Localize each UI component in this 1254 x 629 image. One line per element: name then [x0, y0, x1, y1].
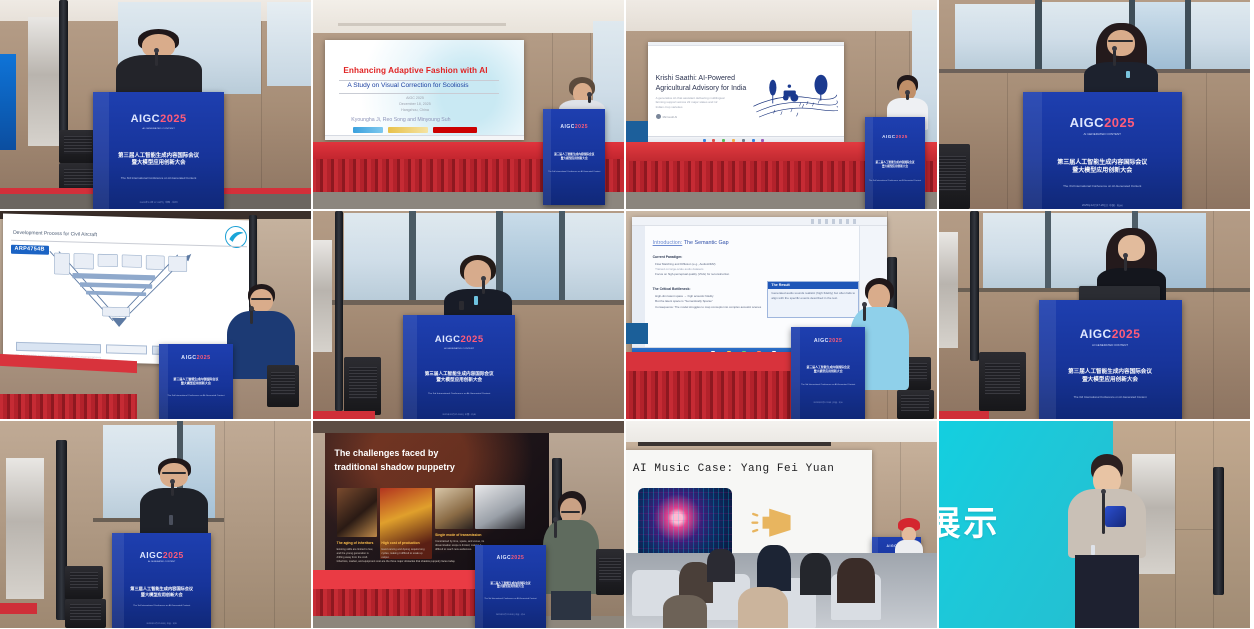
- glasses: [162, 472, 187, 474]
- logo-year: 2025: [829, 338, 843, 344]
- podium-logo-tagline: AI GENERATED CONTENT: [112, 562, 212, 564]
- window-mullion: [559, 211, 565, 303]
- presentation-clicker: [459, 301, 464, 310]
- logo-year: 2025: [460, 334, 483, 345]
- podium-date: 2025年12月17-20日 | 中国 · 杭州: [112, 623, 212, 625]
- decor-panel: [313, 240, 332, 352]
- collage-tile-male-speaker-at-podium-dark-jacket[interactable]: AIGC2025 AI GENERATED CONTENT 第三届人工智能生成内…: [0, 0, 311, 209]
- podium: AIGC2025 第三届人工智能生成内容国际会议 暨大模型应用创新大会 The …: [475, 545, 547, 628]
- projection-screen: Krishi Saathi: AI-Powered Agricultural A…: [648, 42, 844, 142]
- podium-logo: AIGC2025: [159, 355, 234, 361]
- collage-tile-ai-music-case-slide[interactable]: AI Music Case: Yang Fei Yuan AIGC2025 第三…: [626, 421, 937, 628]
- podium-cn-title: 第三届人工智能生成内容国际会议 暨大模型应用创新大会: [791, 366, 866, 374]
- podium: AIGC2025 第三届人工智能生成内容国际会议 暨大模型应用创新大会 The …: [543, 109, 605, 205]
- podium-en-title: The 3rd International Conference on AI-G…: [112, 605, 212, 607]
- podium: AIGC2025 AI GENERATED CONTENT 第三届人工智能生成内…: [112, 533, 212, 628]
- logo-year: 2025: [1104, 115, 1135, 130]
- stage-platform: [939, 411, 989, 419]
- logo-aigc: AIGC: [131, 113, 161, 125]
- pa-speaker: [65, 599, 105, 628]
- process-band-mid: [106, 345, 146, 355]
- slide-title: The challenges faced by traditional shad…: [334, 447, 477, 474]
- podium-cn-line-2: 暨大模型应用创新大会: [543, 157, 605, 161]
- microphone: [554, 520, 557, 538]
- v-model-diagram: [41, 247, 197, 342]
- microphone: [482, 279, 485, 295]
- card-body: Hand carving and dyeing require long cyc…: [381, 548, 426, 560]
- logo-biobizz: [353, 127, 383, 133]
- logo-year: 2025: [197, 355, 211, 361]
- ceiling-beam: [338, 23, 506, 26]
- podium-logo-tagline: AI GENERATED CONTENT: [93, 127, 224, 129]
- pa-speaker: [59, 130, 96, 163]
- podium: AIGC2025 第三届人工智能生成内容国际会议 暨大模型应用创新大会 The …: [865, 117, 924, 209]
- podium-cn-title: 第三届人工智能生成内容国际会议 暨大模型应用创新大会: [1039, 369, 1182, 384]
- wall-seam: [1213, 211, 1214, 419]
- ribbon-icons[interactable]: [811, 219, 857, 224]
- logo-aigc: AIGC: [1080, 327, 1112, 341]
- slide-divider: [339, 80, 498, 81]
- podium-cn-title: 第三届人工智能生成内容国际会议 暨大模型应用创新大会: [1023, 159, 1182, 175]
- callout-body: Generated audio sounds realistic (high f…: [771, 291, 855, 300]
- decor-panel: [6, 458, 43, 599]
- window: [955, 4, 1036, 69]
- window-titlebar: [648, 42, 844, 46]
- podium-cn-title: 第三届人工智能生成内容国际会议 暨大模型应用创新大会: [93, 153, 224, 168]
- ceiling-beam: [638, 442, 831, 446]
- slide-meta-line-3: Hangzhou, China: [365, 108, 465, 112]
- podium-logo: AIGC2025: [112, 550, 212, 560]
- podium-logo: AIGC2025: [791, 338, 866, 344]
- audience-member: [757, 545, 791, 591]
- slide-title: Introduction: The Semantic Gap: [653, 240, 729, 246]
- lanyard-badge: [1126, 71, 1130, 78]
- glasses: [1108, 40, 1133, 42]
- podium-en-title: The 3rd International Conference on AI-G…: [93, 177, 224, 180]
- pa-speaker: [344, 357, 381, 415]
- slide-body: A generative AI chat assistant deliverin…: [656, 96, 727, 110]
- window: [983, 213, 1045, 288]
- comac-mark-icon: [226, 227, 246, 248]
- card-body: Existing skills are limited to few, and …: [337, 548, 375, 560]
- collage-tile-adaptive-fashion-slide[interactable]: Enhancing Adaptive Fashion with AI A Stu…: [313, 0, 624, 209]
- legs: [551, 591, 591, 619]
- collage-tile-shadow-puppetry-challenges-slide[interactable]: The challenges faced by traditional shad…: [313, 421, 624, 628]
- logo-aigc: AIGC: [140, 550, 163, 560]
- podium-cn-line-2: 暨大模型应用创新大会: [1039, 377, 1182, 385]
- podium-logo-tagline: AI GENERATED CONTENT: [403, 348, 515, 350]
- head: [464, 260, 491, 287]
- wall-seam: [1206, 73, 1207, 209]
- slide-title: Enhancing Adaptive Fashion with AI: [343, 66, 487, 75]
- podium-en-title: The 3rd International Conference on AI-G…: [865, 180, 924, 182]
- podium-en-title: The 3rd International Conference on AI-G…: [543, 171, 605, 173]
- presenter: [112, 29, 205, 100]
- podium-logo-tagline: AI GENERATED CONTENT: [1039, 344, 1182, 347]
- logo-aigc: AIGC: [560, 124, 575, 130]
- logo-aigc: AIGC: [882, 134, 895, 139]
- window: [1191, 2, 1250, 69]
- collage-tile-semantic-gap-slide[interactable]: Introduction: The Semantic Gap Current P…: [626, 211, 937, 419]
- podium-en-title: The 3rd International Conference on AI-G…: [475, 598, 547, 600]
- microphone: [250, 309, 253, 324]
- bullet: Consequence: The model struggles to map …: [655, 305, 762, 311]
- podium-logo-tagline: AI GENERATED CONTENT: [1023, 132, 1182, 135]
- presenter: [140, 458, 208, 537]
- slide-divider: [339, 93, 498, 94]
- footer-logo-label: Microsoft AI: [663, 115, 678, 119]
- collage-tile-krishi-saathi-slide[interactable]: Krishi Saathi: AI-Powered Agricultural A…: [626, 0, 937, 209]
- pa-speaker: [65, 566, 102, 599]
- podium-cn-line-1: 第三届人工智能生成内容国际会议: [1023, 159, 1182, 167]
- held-blue-product: [1105, 506, 1126, 527]
- screen-text: 展示: [939, 496, 1001, 545]
- window: [565, 213, 624, 300]
- process-band-left: [16, 342, 102, 353]
- podium-en-title: The 3rd International Conference on AI-G…: [403, 392, 515, 395]
- podium: AIGC2025 AI GENERATED CONTENT 第三届人工智能生成内…: [93, 92, 224, 209]
- logo-year: 2025: [1112, 327, 1141, 341]
- podium-date: 2025年12月17-20日 | 中国 · 杭州: [403, 412, 515, 415]
- stage-skirt: [626, 371, 806, 419]
- podium-cn-line-2: 暨大模型应用创新大会: [865, 165, 924, 169]
- slide-title: Development Process for Civil Aircraft: [13, 230, 97, 238]
- logo-year: 2025: [160, 113, 186, 125]
- window: [344, 213, 409, 300]
- slide-taskbar: [325, 135, 524, 140]
- podium-cn-line-2: 暨大模型应用创新大会: [403, 377, 515, 383]
- collage-tile-female-speaker-at-podium-navy-blazer[interactable]: AIGC2025 AI GENERATED CONTENT 第三届人工智能生成内…: [939, 0, 1250, 209]
- logo-longo-medical: [388, 127, 428, 133]
- slide-photo: [475, 485, 524, 529]
- callout-title: The Result: [768, 282, 858, 289]
- bullet: Focus on high-perceptual quality (VGG) f…: [655, 272, 729, 277]
- wall-seam: [261, 21, 262, 209]
- slide-logo-row: [353, 127, 477, 133]
- microphone: [588, 95, 591, 103]
- collage-tile-civil-aircraft-development-slide[interactable]: Development Process for Civil Aircraft A…: [0, 211, 311, 419]
- collage-tile-male-speaker-at-podium-glasses[interactable]: AIGC2025 AI GENERATED CONTENT 第三届人工智能生成内…: [0, 421, 311, 628]
- microphone: [171, 482, 174, 496]
- podium-logo: AIGC2025: [543, 124, 605, 130]
- podium-cn-title: 第三届人工智能生成内容国际会议 暨大模型应用创新大会: [112, 586, 212, 597]
- logo-aigc: AIGC: [1070, 115, 1105, 130]
- torso: [543, 520, 599, 594]
- brand-mark-icon: [656, 114, 661, 119]
- speaker-playing-icon: [747, 506, 797, 539]
- result-callout: The Result Generated audio sounds realis…: [767, 281, 859, 317]
- pa-speaker: [939, 144, 970, 209]
- ceiling: [313, 421, 624, 433]
- side-table: [626, 323, 648, 344]
- pa-speaker: [979, 352, 1026, 410]
- podium-en-title: The 3rd International Conference on AI-G…: [1023, 185, 1182, 188]
- presenter: [1067, 454, 1148, 628]
- audience-member: [837, 558, 874, 604]
- card-heading: The aging of inheritors: [337, 541, 374, 545]
- podium-cn-title: 第三届人工智能生成内容国际会议 暨大模型应用创新大会: [403, 371, 515, 383]
- podium: AIGC2025 AI GENERATED CONTENT 第三届人工智能生成内…: [1023, 92, 1182, 209]
- podium-cn-line-2: 暨大模型应用创新大会: [1023, 167, 1182, 175]
- projection-screen: Enhancing Adaptive Fashion with AI A Stu…: [325, 40, 524, 140]
- slide-authors: Kyoungha Ji, Reo Song and Minyoung Suh: [351, 117, 450, 123]
- podium-cn-title: 第三届人工智能生成内容国际会议 暨大模型应用创新大会: [159, 377, 234, 385]
- logo-year: 2025: [511, 555, 524, 561]
- podium-cn-title: 第三届人工智能生成内容国际会议 暨大模型应用创新大会: [543, 153, 605, 160]
- logo-year: 2025: [163, 550, 184, 560]
- podium-en-title: The 3rd International Conference on AI-G…: [791, 384, 866, 386]
- logo-aigc: AIGC: [497, 555, 512, 561]
- glasses: [251, 298, 272, 300]
- podium-logo: AIGC2025: [93, 113, 224, 125]
- slide-title-line-2: Agricultural Advisory for India: [656, 84, 747, 94]
- podium: AIGC2025 第三届人工智能生成内容国际会议 暨大模型应用创新大会 The …: [791, 327, 866, 419]
- stage-platform: [313, 411, 375, 419]
- stage-platform: [0, 603, 37, 613]
- slide-bullets-2: High-dim latent space → high acoustic fi…: [655, 294, 762, 311]
- pa-speaker: [596, 549, 624, 595]
- podium-logo: AIGC2025: [1039, 327, 1182, 341]
- audience-member: [663, 595, 707, 628]
- audience-member: [738, 587, 788, 628]
- podium-logo: AIGC2025: [403, 334, 515, 345]
- podium-date: 2025年12月17-20日 | 中国 · 杭州: [93, 200, 224, 203]
- podium: AIGC2025 AI GENERATED CONTENT 第三届人工智能生成内…: [403, 315, 515, 419]
- head: [1107, 30, 1135, 56]
- podium-logo: AIGC2025: [1023, 115, 1182, 130]
- led-screen-edge: [0, 54, 16, 150]
- microphone: [1124, 256, 1127, 271]
- lanyard-badge: [474, 296, 478, 305]
- slide-title-line-1: Krishi Saathi: AI-Powered: [656, 74, 735, 84]
- wall-seam: [1007, 73, 1008, 209]
- slide-photo: [337, 488, 377, 537]
- wall-seam: [224, 421, 225, 628]
- audience-member: [800, 553, 831, 594]
- logo-nc-state-university: [433, 127, 477, 133]
- slide-footer-logo: Microsoft AI: [656, 114, 678, 119]
- slide-section-1: Current Paradigm:: [653, 255, 683, 259]
- v-model-svg: [41, 247, 197, 342]
- slide-footnote: Inheritors, market, and equipment cost a…: [337, 560, 476, 564]
- podium-en-title: The 3rd International Conference on AI-G…: [159, 395, 234, 397]
- card-heading: Single mode of transmission: [435, 533, 481, 537]
- podium-cn-title: 第三届人工智能生成内容国际会议 暨大模型应用创新大会: [475, 582, 547, 589]
- slide-meta-line-1: AIGC 2025: [365, 96, 465, 100]
- lanyard-badge: [1091, 545, 1095, 555]
- microphone: [863, 305, 866, 322]
- podium-cn-line-1: 第三届人工智能生成内容国际会议: [93, 153, 224, 160]
- presenter: [1082, 23, 1160, 100]
- microphone: [906, 93, 909, 101]
- podium-cn-line-2: 暨大模型应用创新大会: [475, 585, 547, 589]
- podium-logo: AIGC2025: [865, 134, 924, 139]
- logo-year: 2025: [575, 124, 588, 130]
- slide-meta-line-2: December 18, 2025: [365, 102, 465, 106]
- logo-aigc: AIGC: [814, 338, 829, 344]
- microphone: [155, 51, 158, 67]
- logo-aigc: AIGC: [181, 355, 196, 361]
- slide-subtitle: A Study on Visual Correction for Scolios…: [347, 82, 468, 89]
- slide-title-prefix: Introduction:: [653, 240, 683, 246]
- logo-aigc: AIGC: [435, 334, 461, 345]
- window-mullion: [1045, 211, 1051, 290]
- collage-tile-teal-stage-presenter[interactable]: 展示: [939, 421, 1250, 628]
- podium: AIGC2025 第三届人工智能生成内容国际会议 暨大模型应用创新大会 The …: [159, 344, 234, 419]
- card-heading: High cost of production: [381, 541, 419, 545]
- lanyard-badge: [169, 515, 173, 525]
- torso: [140, 488, 208, 537]
- podium-cn-line-2: 暨大模型应用创新大会: [112, 592, 212, 598]
- support-pole: [1213, 467, 1224, 595]
- window: [267, 2, 311, 86]
- stage-platform: [313, 570, 493, 589]
- stage-platform: [626, 352, 806, 371]
- window-mullion: [1185, 0, 1191, 71]
- slide-title-text: The Semantic Gap: [684, 240, 729, 246]
- podium-en-title: The 3rd International Conference on AI-G…: [1039, 396, 1182, 399]
- slide-bullets-1: Flow Matching and Diffusion (e.g., Audio…: [655, 262, 729, 278]
- logo-year: 2025: [896, 134, 908, 139]
- window-mullion: [1035, 0, 1041, 71]
- farm-illustration: [752, 66, 838, 122]
- podium-cn-title: 第三届人工智能生成内容国际会议 暨大模型应用创新大会: [865, 161, 924, 168]
- slide-section-2: The Critical Bottleneck:: [653, 287, 691, 291]
- collage-tile-female-speaker-with-laptop-at-podium[interactable]: AIGC2025 AI GENERATED CONTENT 第三届人工智能生成内…: [939, 211, 1250, 419]
- podium-date: 2025年12月17-20日 | 中国 · 杭州: [475, 613, 547, 615]
- audience-member: [707, 549, 735, 582]
- podium-cn-line-2: 暨大模型应用创新大会: [159, 381, 234, 385]
- podium-cn-line-2: 暨大模型应用创新大会: [93, 160, 224, 167]
- slide-background: [325, 40, 524, 140]
- window-mullion: [409, 211, 415, 303]
- wall-seam: [274, 421, 275, 628]
- legs: [1075, 555, 1140, 628]
- podium-logo: AIGC2025: [475, 555, 547, 561]
- podium-cn-line-2: 暨大模型应用创新大会: [791, 370, 866, 374]
- presenter: [543, 491, 599, 619]
- slide-title: AI Music Case: Yang Fei Yuan: [633, 463, 835, 475]
- slide-photo: [435, 488, 473, 529]
- head: [868, 284, 890, 309]
- podium-date: 2025年12月17-20日 | 中国 · 杭州: [1023, 204, 1182, 207]
- podium: AIGC2025 AI GENERATED CONTENT 第三届人工智能生成内…: [1039, 300, 1182, 419]
- pa-speaker: [626, 121, 648, 142]
- wall-seam: [1175, 421, 1176, 628]
- pa-speaker: [897, 390, 934, 419]
- photo-collage-grid: AIGC2025 AI GENERATED CONTENT 第三届人工智能生成内…: [0, 0, 1254, 629]
- podium-date: 2025年12月17-20日 | 中国 · 杭州: [791, 401, 866, 403]
- support-pole: [970, 211, 979, 361]
- collage-tile-female-speaker-at-podium-with-clicker[interactable]: AIGC2025 AI GENERATED CONTENT 第三届人工智能生成内…: [313, 211, 624, 419]
- podium-cn-line-1: 第三届人工智能生成内容国际会议: [1039, 369, 1182, 377]
- microphone: [1113, 49, 1116, 66]
- stage-skirt: [0, 394, 137, 419]
- support-pole: [335, 211, 343, 411]
- decor-panel: [939, 232, 958, 348]
- glasses: [561, 511, 580, 513]
- comac-logo-icon: [225, 226, 247, 249]
- pa-speaker: [267, 365, 298, 407]
